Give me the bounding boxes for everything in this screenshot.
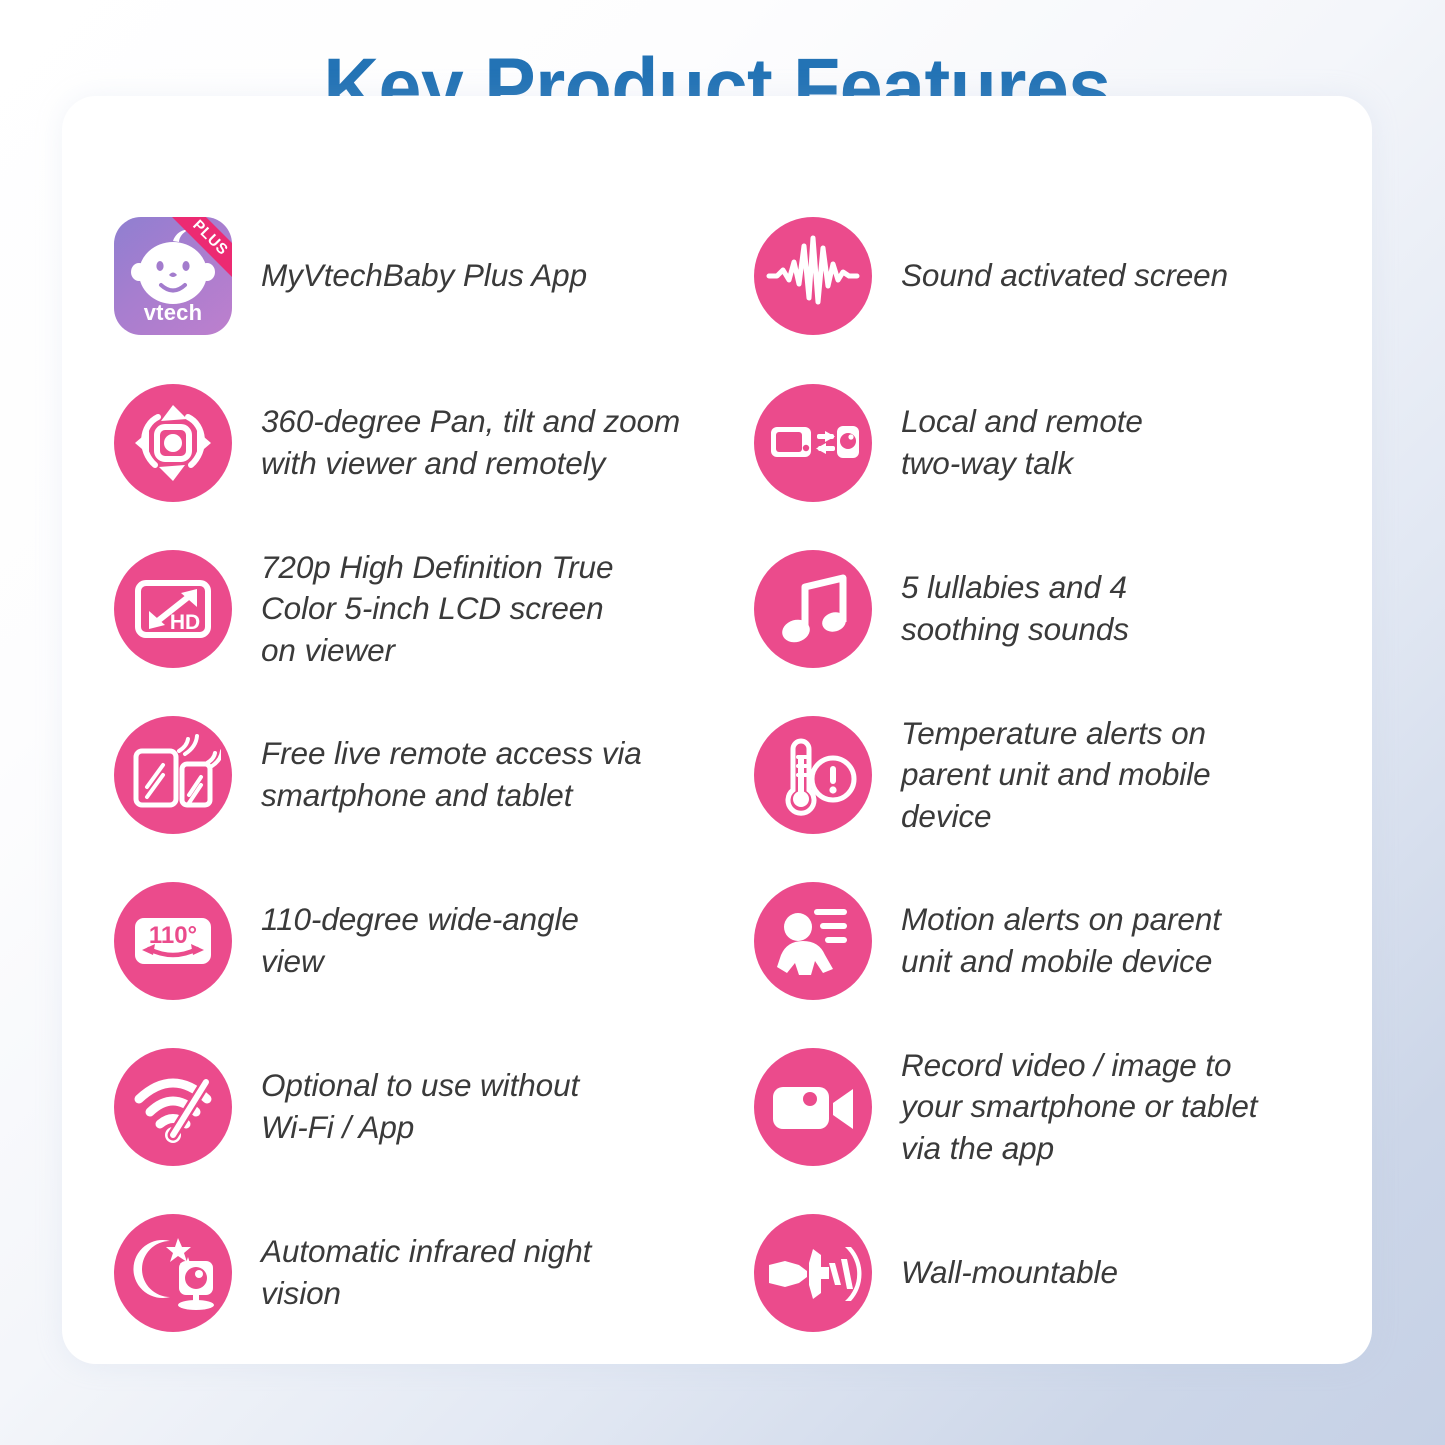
icon-cell	[752, 1212, 874, 1334]
icon-cell	[752, 215, 874, 337]
icon-cell	[752, 714, 874, 836]
feature-label: 5 lullabies and 4 soothing sounds	[874, 567, 1194, 650]
icon-cell	[112, 382, 234, 504]
feature-item-app: PLUS vtech MyVtechBaby Plus App	[112, 192, 712, 360]
feature-card: PLUS vtech MyVtechBaby Plus App	[62, 96, 1372, 1364]
feature-item-night-vision: Automatic infrared night vision	[112, 1190, 712, 1356]
feature-item-no-wifi: Optional to use without Wi-Fi / App	[112, 1024, 712, 1190]
icon-cell	[752, 880, 874, 1002]
feature-label: Motion alerts on parent unit and mobile …	[874, 899, 1244, 982]
feature-label: Sound activated screen	[874, 255, 1228, 297]
feature-item-temperature-alerts: Temperature alerts on parent unit and mo…	[752, 692, 1352, 858]
feature-label: Wall-mountable	[874, 1252, 1118, 1294]
feature-item-sound-activated: Sound activated screen	[752, 192, 1352, 360]
feature-label: Temperature alerts on parent unit and mo…	[874, 713, 1244, 838]
icon-cell: 110°	[112, 880, 234, 1002]
feature-label: Automatic infrared night vision	[234, 1231, 634, 1314]
night-vision-icon	[114, 1214, 232, 1332]
feature-item-record-video: Record video / image to your smartphone …	[752, 1024, 1352, 1190]
feature-item-lullabies: 5 lullabies and 4 soothing sounds	[752, 526, 1352, 692]
icon-cell	[752, 382, 874, 504]
feature-label: Record video / image to your smartphone …	[874, 1045, 1274, 1170]
feature-item-two-way-talk: Local and remote two-way talk	[752, 360, 1352, 526]
feature-item-wall-mountable: Wall-mountable	[752, 1190, 1352, 1356]
hd-screen-icon: HD	[114, 550, 232, 668]
icon-cell: HD	[112, 548, 234, 670]
feature-label: Optional to use without Wi-Fi / App	[234, 1065, 634, 1148]
thermometer-alert-icon	[754, 716, 872, 834]
icon-cell	[112, 1212, 234, 1334]
motion-baby-icon	[754, 882, 872, 1000]
sound-wave-icon	[754, 217, 872, 335]
feature-label: Free live remote access via smartphone a…	[234, 733, 654, 816]
hd-label: HD	[170, 611, 200, 634]
feature-label: MyVtechBaby Plus App	[234, 255, 587, 297]
video-camera-icon	[754, 1048, 872, 1166]
wide-angle-label: 110°	[149, 922, 197, 949]
feature-label: 360-degree Pan, tilt and zoom with viewe…	[234, 401, 704, 484]
feature-item-hd-screen: HD 720p High Definition True Color 5-inc…	[112, 526, 712, 692]
feature-column-left: PLUS vtech MyVtechBaby Plus App	[112, 192, 712, 1356]
icon-cell	[112, 714, 234, 836]
two-way-talk-icon	[754, 384, 872, 502]
wall-mount-screw-icon	[754, 1214, 872, 1332]
feature-item-remote-access: Free live remote access via smartphone a…	[112, 692, 712, 858]
vtech-app-icon: PLUS vtech	[114, 217, 232, 335]
icon-cell	[112, 1046, 234, 1168]
feature-label: Local and remote two-way talk	[874, 401, 1204, 484]
icon-cell	[752, 548, 874, 670]
music-note-icon	[754, 550, 872, 668]
feature-item-wide-angle: 110° 110-degree wide-angle view	[112, 858, 712, 1024]
wide-angle-110-icon: 110°	[114, 882, 232, 1000]
icon-cell: PLUS vtech	[112, 215, 234, 337]
feature-label: 720p High Definition True Color 5-inch L…	[234, 547, 634, 672]
feature-item-motion-alerts: Motion alerts on parent unit and mobile …	[752, 858, 1352, 1024]
feature-column-right: Sound activated screen	[752, 192, 1352, 1356]
vtech-brand-label: vtech	[114, 300, 232, 326]
icon-cell	[752, 1046, 874, 1168]
smartphone-tablet-icon	[114, 716, 232, 834]
feature-label: 110-degree wide-angle view	[234, 899, 634, 982]
pan-tilt-zoom-icon	[114, 384, 232, 502]
wifi-off-icon	[114, 1048, 232, 1166]
feature-item-pan-tilt-zoom: 360-degree Pan, tilt and zoom with viewe…	[112, 360, 712, 526]
